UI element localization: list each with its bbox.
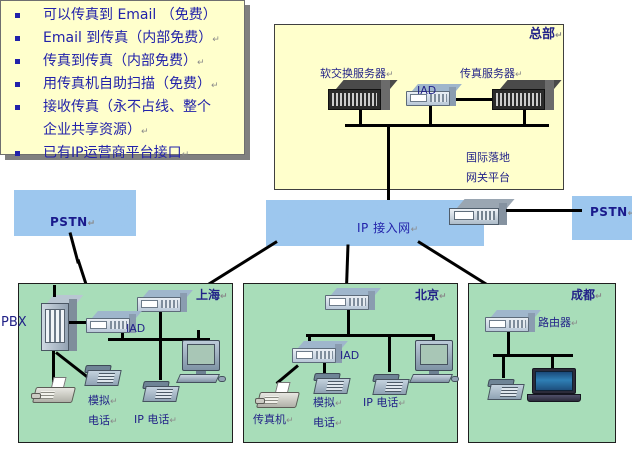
paragraph-mark-icon: ↵ <box>398 399 406 409</box>
list-item: 企业共享资源）↵ <box>7 120 245 143</box>
feature-list: 可以传真到 Email （免费） Email 到传真（内部免费）↵ 传真到传真（… <box>7 5 245 166</box>
iad-fax-server-link <box>452 98 494 101</box>
chengdu-router-drop <box>507 332 510 354</box>
list-item: Email 到传真（内部免费）↵ <box>7 28 245 51</box>
paragraph-mark-icon: ↵ <box>515 70 523 80</box>
list-item-label: 用传真机自助扫描（免费） <box>43 76 211 92</box>
beijing-router-drop <box>347 310 350 334</box>
beijing-fax-label: 传真机↵ <box>253 414 294 427</box>
chengdu-title: 成都↵ <box>571 289 603 303</box>
shanghai-ip-phone-label: IP 电话↵ <box>134 414 177 427</box>
list-item-label: Email 到传真（内部免费） <box>43 30 212 46</box>
chengdu-router-label: 路由器↵ <box>538 317 579 330</box>
beijing-analog-phone-label-2: 电话↵ <box>313 417 343 430</box>
beijing-fax-icon <box>258 382 302 410</box>
paragraph-mark-icon: ↵ <box>555 31 563 41</box>
beijing-lan-bus <box>306 334 435 337</box>
network-diagram-canvas: 可以传真到 Email （免费） Email 到传真（内部免费）↵ 传真到传真（… <box>0 0 632 452</box>
beijing-iad-icon <box>292 341 342 363</box>
chengdu-lan-bus <box>493 354 573 357</box>
ip-access-label: IP 接入网↵ <box>357 219 419 236</box>
shanghai-router-icon <box>137 290 187 312</box>
bullet-icon <box>15 36 20 41</box>
shanghai-fax-icon <box>34 377 78 405</box>
paragraph-mark-icon: ↵ <box>335 419 343 429</box>
paragraph-mark-icon: ↵ <box>141 127 149 137</box>
bullet-icon <box>15 105 20 110</box>
paragraph-mark-icon: ↵ <box>595 292 603 302</box>
chengdu-branch-box <box>468 283 616 443</box>
list-item: 传真到传真（内部免费）↵ <box>7 51 245 74</box>
bullet-icon <box>15 151 20 156</box>
paragraph-mark-icon: ↵ <box>197 58 205 68</box>
paragraph-mark-icon: ↵ <box>571 319 579 329</box>
beijing-iad-label: IAD <box>340 350 359 363</box>
shanghai-ip-phone-icon <box>142 378 180 404</box>
list-item-label: 已有IP运营商平台接口 <box>43 145 182 161</box>
beijing-pc-icon <box>409 340 461 386</box>
paragraph-mark-icon: ↵ <box>335 399 343 409</box>
softswitch-server-icon <box>328 80 390 110</box>
shanghai-router-drop <box>159 312 162 338</box>
softswitch-server-label: 软交换服务器↵ <box>320 68 394 81</box>
chengdu-laptop-icon <box>527 368 581 404</box>
pstn-left-label: PSTN↵ <box>50 215 96 229</box>
paragraph-mark-icon: ↵ <box>110 417 118 427</box>
list-item: 可以传真到 Email （免费） <box>7 5 245 28</box>
beijing-ip-phone-icon <box>372 371 410 397</box>
chengdu-phone-drop <box>502 354 505 378</box>
hq-bus-line <box>345 124 549 127</box>
chengdu-router-icon <box>485 310 535 332</box>
pbx-iad-link <box>69 321 87 324</box>
paragraph-mark-icon: ↵ <box>212 35 220 45</box>
paragraph-mark-icon: ↵ <box>628 209 632 219</box>
paragraph-mark-icon: ↵ <box>220 292 228 302</box>
fax-server-drop-line <box>523 108 526 125</box>
beijing-router-icon <box>325 288 375 310</box>
pstn-right-label: PSTN↵ <box>590 205 632 219</box>
paragraph-mark-icon: ↵ <box>88 219 96 229</box>
paragraph-mark-icon: ↵ <box>411 225 419 235</box>
shanghai-analog-phone-label-1: 模拟↵ <box>88 395 118 408</box>
softswitch-drop-line <box>359 108 362 125</box>
paragraph-mark-icon: ↵ <box>169 416 177 426</box>
paragraph-mark-icon: ↵ <box>182 150 190 160</box>
paragraph-mark-icon: ↵ <box>386 70 394 80</box>
paragraph-mark-icon: ↵ <box>110 397 118 407</box>
list-item-label: 企业共享资源） <box>43 122 141 138</box>
shanghai-title: 上海↵ <box>196 289 228 303</box>
iad-drop-line <box>429 104 432 125</box>
shanghai-pbx-label: PBX <box>1 316 27 331</box>
list-item: 已有IP运营商平台接口↵ <box>7 143 245 166</box>
feature-box: 可以传真到 Email （免费） Email 到传真（内部免费）↵ 传真到传真（… <box>0 0 245 155</box>
gateway-platform-label-line1: 国际落地 <box>466 152 510 165</box>
paragraph-mark-icon: ↵ <box>211 81 219 91</box>
shanghai-iad-label: IAD <box>126 323 145 336</box>
beijing-ip-phone-label: IP 电话↵ <box>363 397 406 410</box>
gateway-platform-label-line2: 网关平台 <box>466 172 510 185</box>
pstn-left-cloud <box>14 190 136 236</box>
fax-server-icon <box>492 80 554 110</box>
list-item-label: 接收传真（永不占线、整个 <box>43 99 211 115</box>
chengdu-phone-icon <box>487 376 525 402</box>
shanghai-analog-phone-label-2: 电话↵ <box>88 415 118 428</box>
gateway-pstn-line <box>506 209 582 212</box>
hq-iad-label: IAD <box>417 85 436 98</box>
shanghai-pc-drop <box>197 330 200 340</box>
beijing-title: 北京↵ <box>415 289 447 303</box>
shanghai-pbx-uplink <box>53 285 56 297</box>
hq-title: 总部↵ <box>529 28 563 43</box>
cloud-beijing-line <box>345 244 350 288</box>
beijing-analog-phone-icon <box>313 370 351 396</box>
list-item: 用传真机自助扫描（免费）↵ <box>7 74 245 97</box>
list-item: 接收传真（永不占线、整个 <box>7 97 245 120</box>
paragraph-mark-icon: ↵ <box>439 292 447 302</box>
list-item-label: 传真到传真（内部免费） <box>43 53 197 69</box>
fax-server-label: 传真服务器↵ <box>460 68 523 81</box>
list-item-label: 可以传真到 Email （免费） <box>43 7 217 23</box>
shanghai-pc-icon <box>176 340 228 386</box>
shanghai-analog-phone-icon <box>84 362 122 388</box>
paragraph-mark-icon: ↵ <box>286 416 294 426</box>
international-gateway-icon <box>449 199 507 225</box>
beijing-analog-phone-label-1: 模拟↵ <box>313 397 343 410</box>
bullet-icon <box>15 59 20 64</box>
bullet-icon <box>15 13 20 18</box>
shanghai-ipphone-drop <box>159 338 162 380</box>
bullet-icon <box>15 82 20 87</box>
beijing-ipphone-drop <box>388 334 391 372</box>
